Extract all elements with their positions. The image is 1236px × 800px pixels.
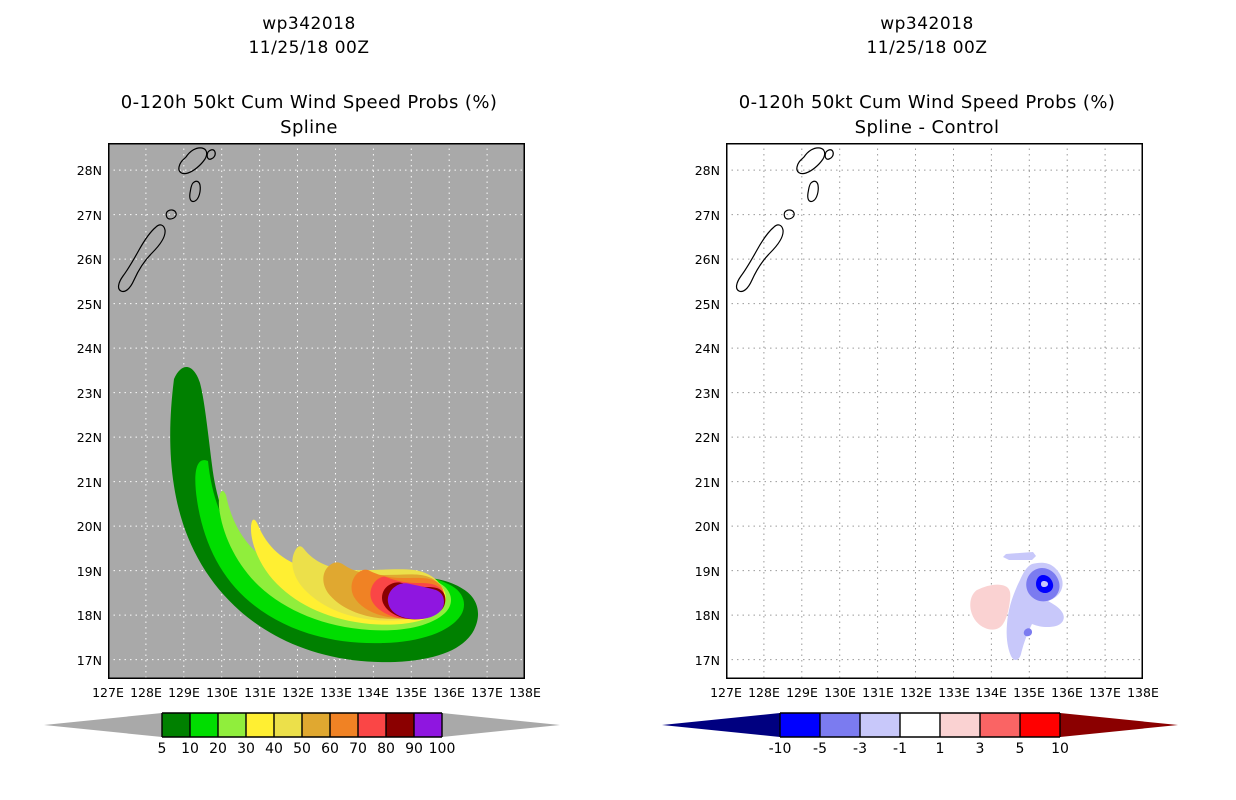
y-tick-18n-right: 18N xyxy=(678,608,720,623)
right-panel-storm-id-block: wp342018 11/25/18 00Z xyxy=(618,14,1236,58)
right-map-background xyxy=(726,143,1143,679)
y-tick-23n: 23N xyxy=(60,386,102,401)
right-colorbar-over-arrow xyxy=(1060,713,1178,737)
y-tick-23n-right: 23N xyxy=(678,386,720,401)
cb-tick-pos5: 5 xyxy=(998,741,1042,757)
right-map-plot-area[interactable] xyxy=(726,143,1143,679)
panel-spline: wp342018 11/25/18 00Z 0-120h 50kt Cum Wi… xyxy=(0,0,618,800)
y-tick-26n: 26N xyxy=(60,252,102,267)
y-tick-24n: 24N xyxy=(60,341,102,356)
left-chart-title: 0-120h 50kt Cum Wind Speed Probs (%) xyxy=(0,92,618,113)
cb-tick-pos1: 1 xyxy=(918,741,962,757)
cb-tick-pos3: 3 xyxy=(958,741,1002,757)
y-tick-27n: 27N xyxy=(60,208,102,223)
right-panel-title-block: 0-120h 50kt Cum Wind Speed Probs (%) Spl… xyxy=(618,92,1236,138)
y-tick-26n-right: 26N xyxy=(678,252,720,267)
right-chart-subtitle: Spline - Control xyxy=(618,117,1236,138)
y-tick-21n-right: 21N xyxy=(678,475,720,490)
left-colorbar[interactable] xyxy=(44,711,560,739)
y-tick-28n: 28N xyxy=(60,163,102,178)
y-tick-25n: 25N xyxy=(60,297,102,312)
y-tick-24n-right: 24N xyxy=(678,341,720,356)
left-map-svg xyxy=(108,143,525,679)
y-tick-27n-right: 27N xyxy=(678,208,720,223)
right-storm-id: wp342018 xyxy=(618,14,1236,34)
anomaly-negative-core-center xyxy=(1041,581,1048,587)
wind-speed-probability-figure: wp342018 11/25/18 00Z 0-120h 50kt Cum Wi… xyxy=(0,0,1236,800)
left-chart-subtitle: Spline xyxy=(0,117,618,138)
right-colorbar[interactable] xyxy=(662,711,1178,739)
y-tick-25n-right: 25N xyxy=(678,297,720,312)
y-tick-18n: 18N xyxy=(60,608,102,623)
y-tick-17n: 17N xyxy=(60,653,102,668)
y-tick-21n: 21N xyxy=(60,475,102,490)
right-map-svg xyxy=(726,143,1143,679)
cb-tick-neg10: -10 xyxy=(758,741,802,757)
y-tick-17n-right: 17N xyxy=(678,653,720,668)
y-tick-19n-right: 19N xyxy=(678,564,720,579)
y-tick-28n-right: 28N xyxy=(678,163,720,178)
y-tick-19n: 19N xyxy=(60,564,102,579)
cb-tick-100: 100 xyxy=(420,741,464,757)
panel-spline-minus-control: wp342018 11/25/18 00Z 0-120h 50kt Cum Wi… xyxy=(618,0,1236,800)
left-panel-title-block: 0-120h 50kt Cum Wind Speed Probs (%) Spl… xyxy=(0,92,618,138)
y-tick-22n: 22N xyxy=(60,430,102,445)
right-colorbar-under-arrow xyxy=(662,713,780,737)
cb-tick-neg5: -5 xyxy=(798,741,842,757)
left-storm-id: wp342018 xyxy=(0,14,618,34)
right-colorbar-svg xyxy=(662,711,1178,739)
x-tick-138e-right: 138E xyxy=(1120,685,1166,700)
right-chart-title: 0-120h 50kt Cum Wind Speed Probs (%) xyxy=(618,92,1236,113)
cb-tick-neg1: -1 xyxy=(878,741,922,757)
cb-tick-neg3: -3 xyxy=(838,741,882,757)
y-tick-22n-right: 22N xyxy=(678,430,720,445)
right-colorbar-segments xyxy=(780,713,1060,737)
right-datetime: 11/25/18 00Z xyxy=(618,38,1236,58)
y-tick-20n: 20N xyxy=(60,519,102,534)
x-tick-138e: 138E xyxy=(502,685,548,700)
cb-tick-pos10: 10 xyxy=(1038,741,1082,757)
left-panel-storm-id-block: wp342018 11/25/18 00Z xyxy=(0,14,618,58)
left-datetime: 11/25/18 00Z xyxy=(0,38,618,58)
left-colorbar-over-arrow xyxy=(442,713,560,737)
y-tick-20n-right: 20N xyxy=(678,519,720,534)
left-map-plot-area[interactable] xyxy=(108,143,525,679)
left-colorbar-svg xyxy=(44,711,560,739)
left-colorbar-under-arrow xyxy=(44,713,162,737)
